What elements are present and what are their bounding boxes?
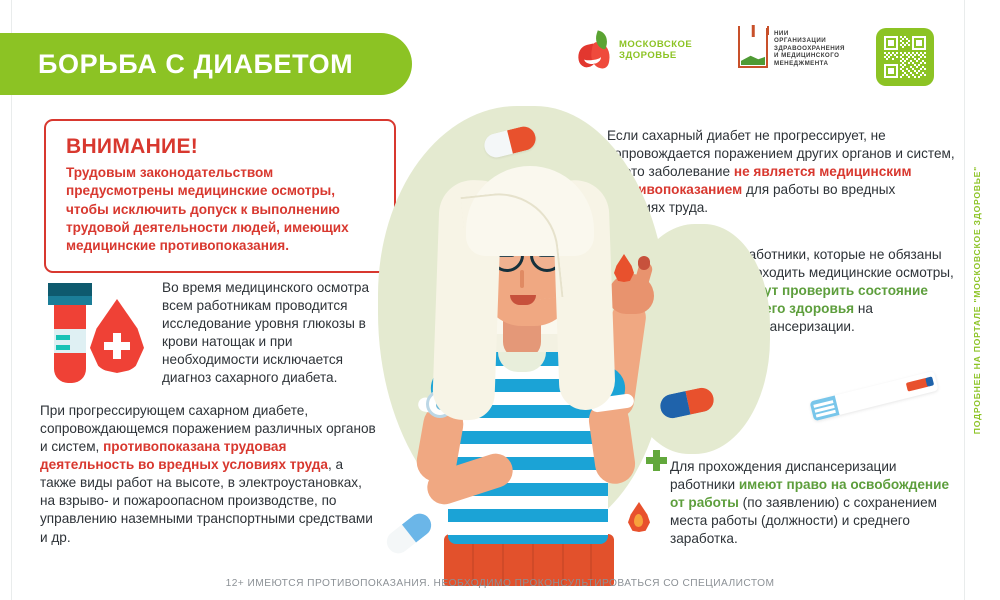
side-note: ПОДРОБНЕЕ НА ПОРТАЛЕ "МОСКОВСКОЕ ЗДОРОВЬ… xyxy=(966,0,988,600)
blood-test-tube-icon xyxy=(40,277,148,383)
infographic-page: БОРЬБА С ДИАБЕТОМ МОСКОВСКОЕ ЗДОРОВЬЕ НИ… xyxy=(0,0,1000,600)
attention-title: ВНИМАНИЕ! xyxy=(66,135,378,159)
nii-line-5: МЕНЕДЖМЕНТА xyxy=(774,60,845,67)
blood-drop-glucose xyxy=(628,502,650,532)
nii-line-4: И МЕДИЦИНСКОГО xyxy=(774,52,845,59)
logo-nii-words: НИИ ОРГАНИЗАЦИИ ЗДРАВООХРАНЕНИЯ И МЕДИЦИ… xyxy=(774,28,845,67)
qr-code-badge[interactable] xyxy=(876,28,934,86)
frame-divider-right xyxy=(964,0,965,600)
side-note-text: ПОДРОБНЕЕ НА ПОРТАЛЕ "МОСКОВСКОЕ ЗДОРОВЬ… xyxy=(972,166,982,434)
capsule-pill-white-blue xyxy=(382,509,436,558)
attention-body: Трудовым законодательством предусмотрены… xyxy=(66,164,378,256)
logo-line-2: ЗДОРОВЬЕ xyxy=(619,51,692,62)
apple-leaf-icon xyxy=(578,32,612,70)
logo-moscow-health[interactable]: МОСКОВСКОЕ ЗДОРОВЬЕ xyxy=(578,32,692,70)
qr-code-icon xyxy=(884,36,926,78)
leave-rights-block: Для прохождения диспансеризации работник… xyxy=(670,458,960,548)
blood-drop-cross-icon xyxy=(90,299,144,373)
glucometer-test-strip xyxy=(809,371,938,421)
nii-line-3: ЗДРАВООХРАНЕНИЯ xyxy=(774,45,845,52)
checkup-text: Работники, которые не обязаны проходить … xyxy=(740,246,958,336)
checkup-part1: Работники, которые не обязаны проходить … xyxy=(740,247,954,280)
glucose-test-text: Во время медицинского осмотра всем работ… xyxy=(162,277,385,387)
open-book-icon xyxy=(738,28,768,68)
page-title-banner: БОРЬБА С ДИАБЕТОМ xyxy=(0,33,412,95)
contraindication-paragraph: При прогрессирующем сахарном диабете, со… xyxy=(40,402,380,547)
logo-moscow-health-words: МОСКОВСКОЕ ЗДОРОВЬЕ xyxy=(619,40,692,61)
page-title: БОРЬБА С ДИАБЕТОМ xyxy=(0,49,353,80)
attention-box: ВНИМАНИЕ! Трудовым законодательством пре… xyxy=(44,119,396,273)
nii-line-2: ОРГАНИЗАЦИИ xyxy=(774,37,845,44)
disclaimer: 12+ ИМЕЮТСЯ ПРОТИВОПОКАЗАНИЯ. НЕОБХОДИМО… xyxy=(0,578,1000,589)
logo-nii[interactable]: НИИ ОРГАНИЗАЦИИ ЗДРАВООХРАНЕНИЯ И МЕДИЦИ… xyxy=(738,28,845,68)
woman-with-glasses-illustration xyxy=(370,104,700,576)
nii-line-1: НИИ xyxy=(774,30,845,37)
leave-rights-text: Для прохождения диспансеризации работник… xyxy=(670,458,960,548)
glucose-test-block: Во время медицинского осмотра всем работ… xyxy=(40,277,385,387)
finger-prick-point xyxy=(638,256,650,270)
checkup-block: Работники, которые не обязаны проходить … xyxy=(740,246,958,336)
